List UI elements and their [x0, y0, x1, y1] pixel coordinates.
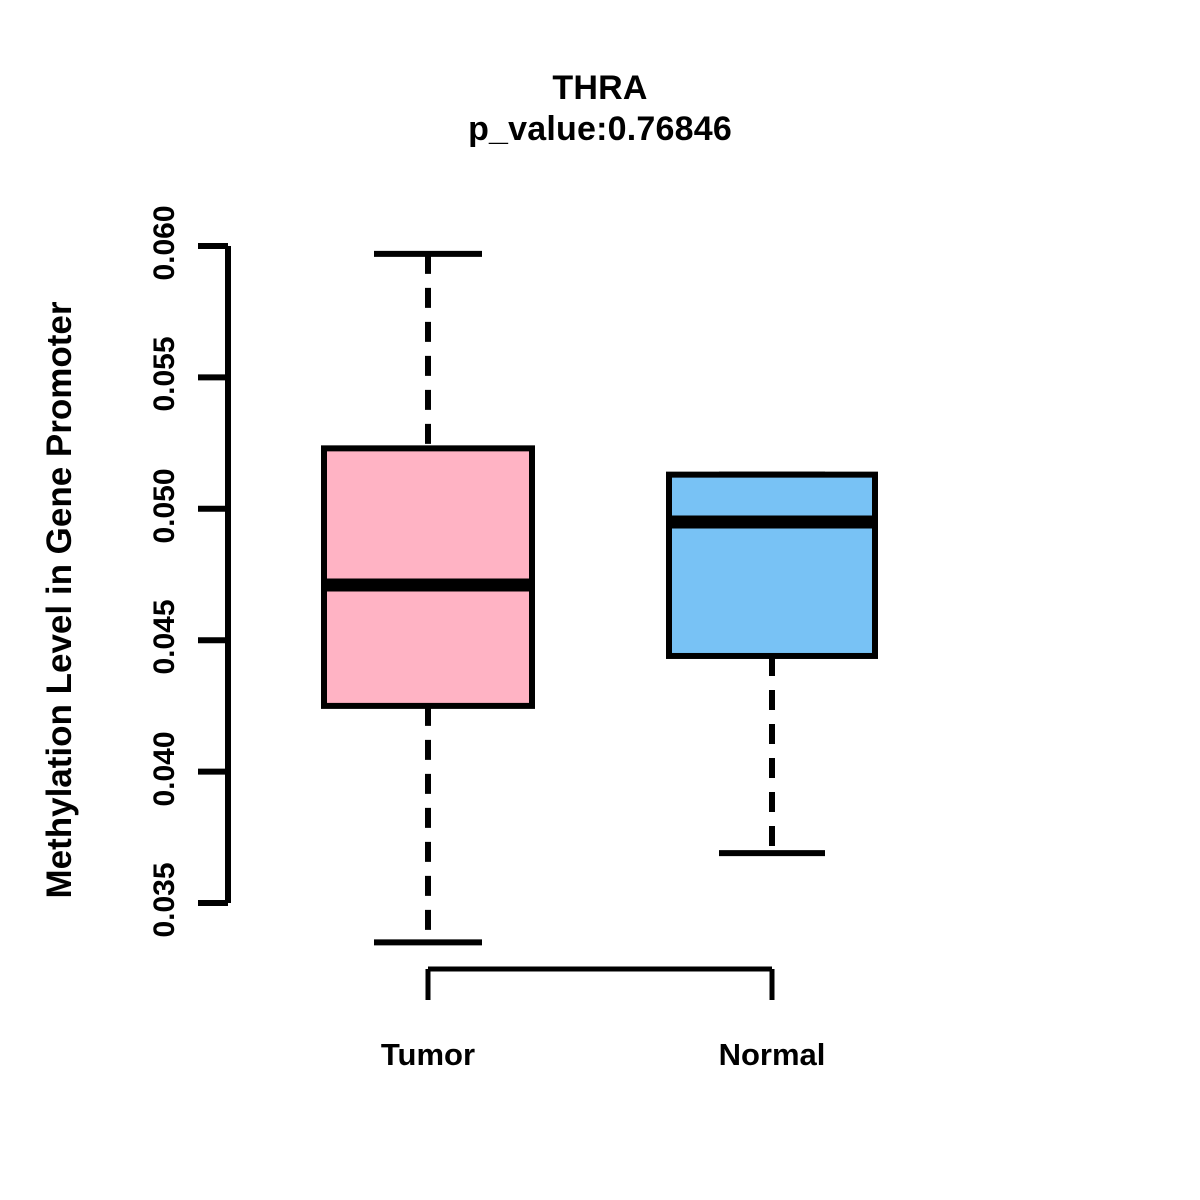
box-normal — [669, 475, 875, 853]
x-tick-label-normal: Normal — [622, 1037, 922, 1073]
y-tick-label: 0.055 — [148, 304, 182, 444]
y-tick-label: 0.040 — [148, 699, 182, 839]
y-tick-label: 0.050 — [148, 436, 182, 576]
box-rect — [324, 448, 532, 706]
box-rect — [669, 475, 875, 656]
box-tumor — [324, 254, 532, 943]
y-tick-label: 0.045 — [148, 567, 182, 707]
box-layer — [324, 254, 875, 943]
x-tick-label-tumor: Tumor — [278, 1037, 578, 1073]
y-tick-label: 0.060 — [148, 173, 182, 313]
y-tick-label: 0.035 — [148, 830, 182, 970]
boxplot-figure: THRA p_value:0.76846 Methylation Level i… — [0, 0, 1200, 1200]
